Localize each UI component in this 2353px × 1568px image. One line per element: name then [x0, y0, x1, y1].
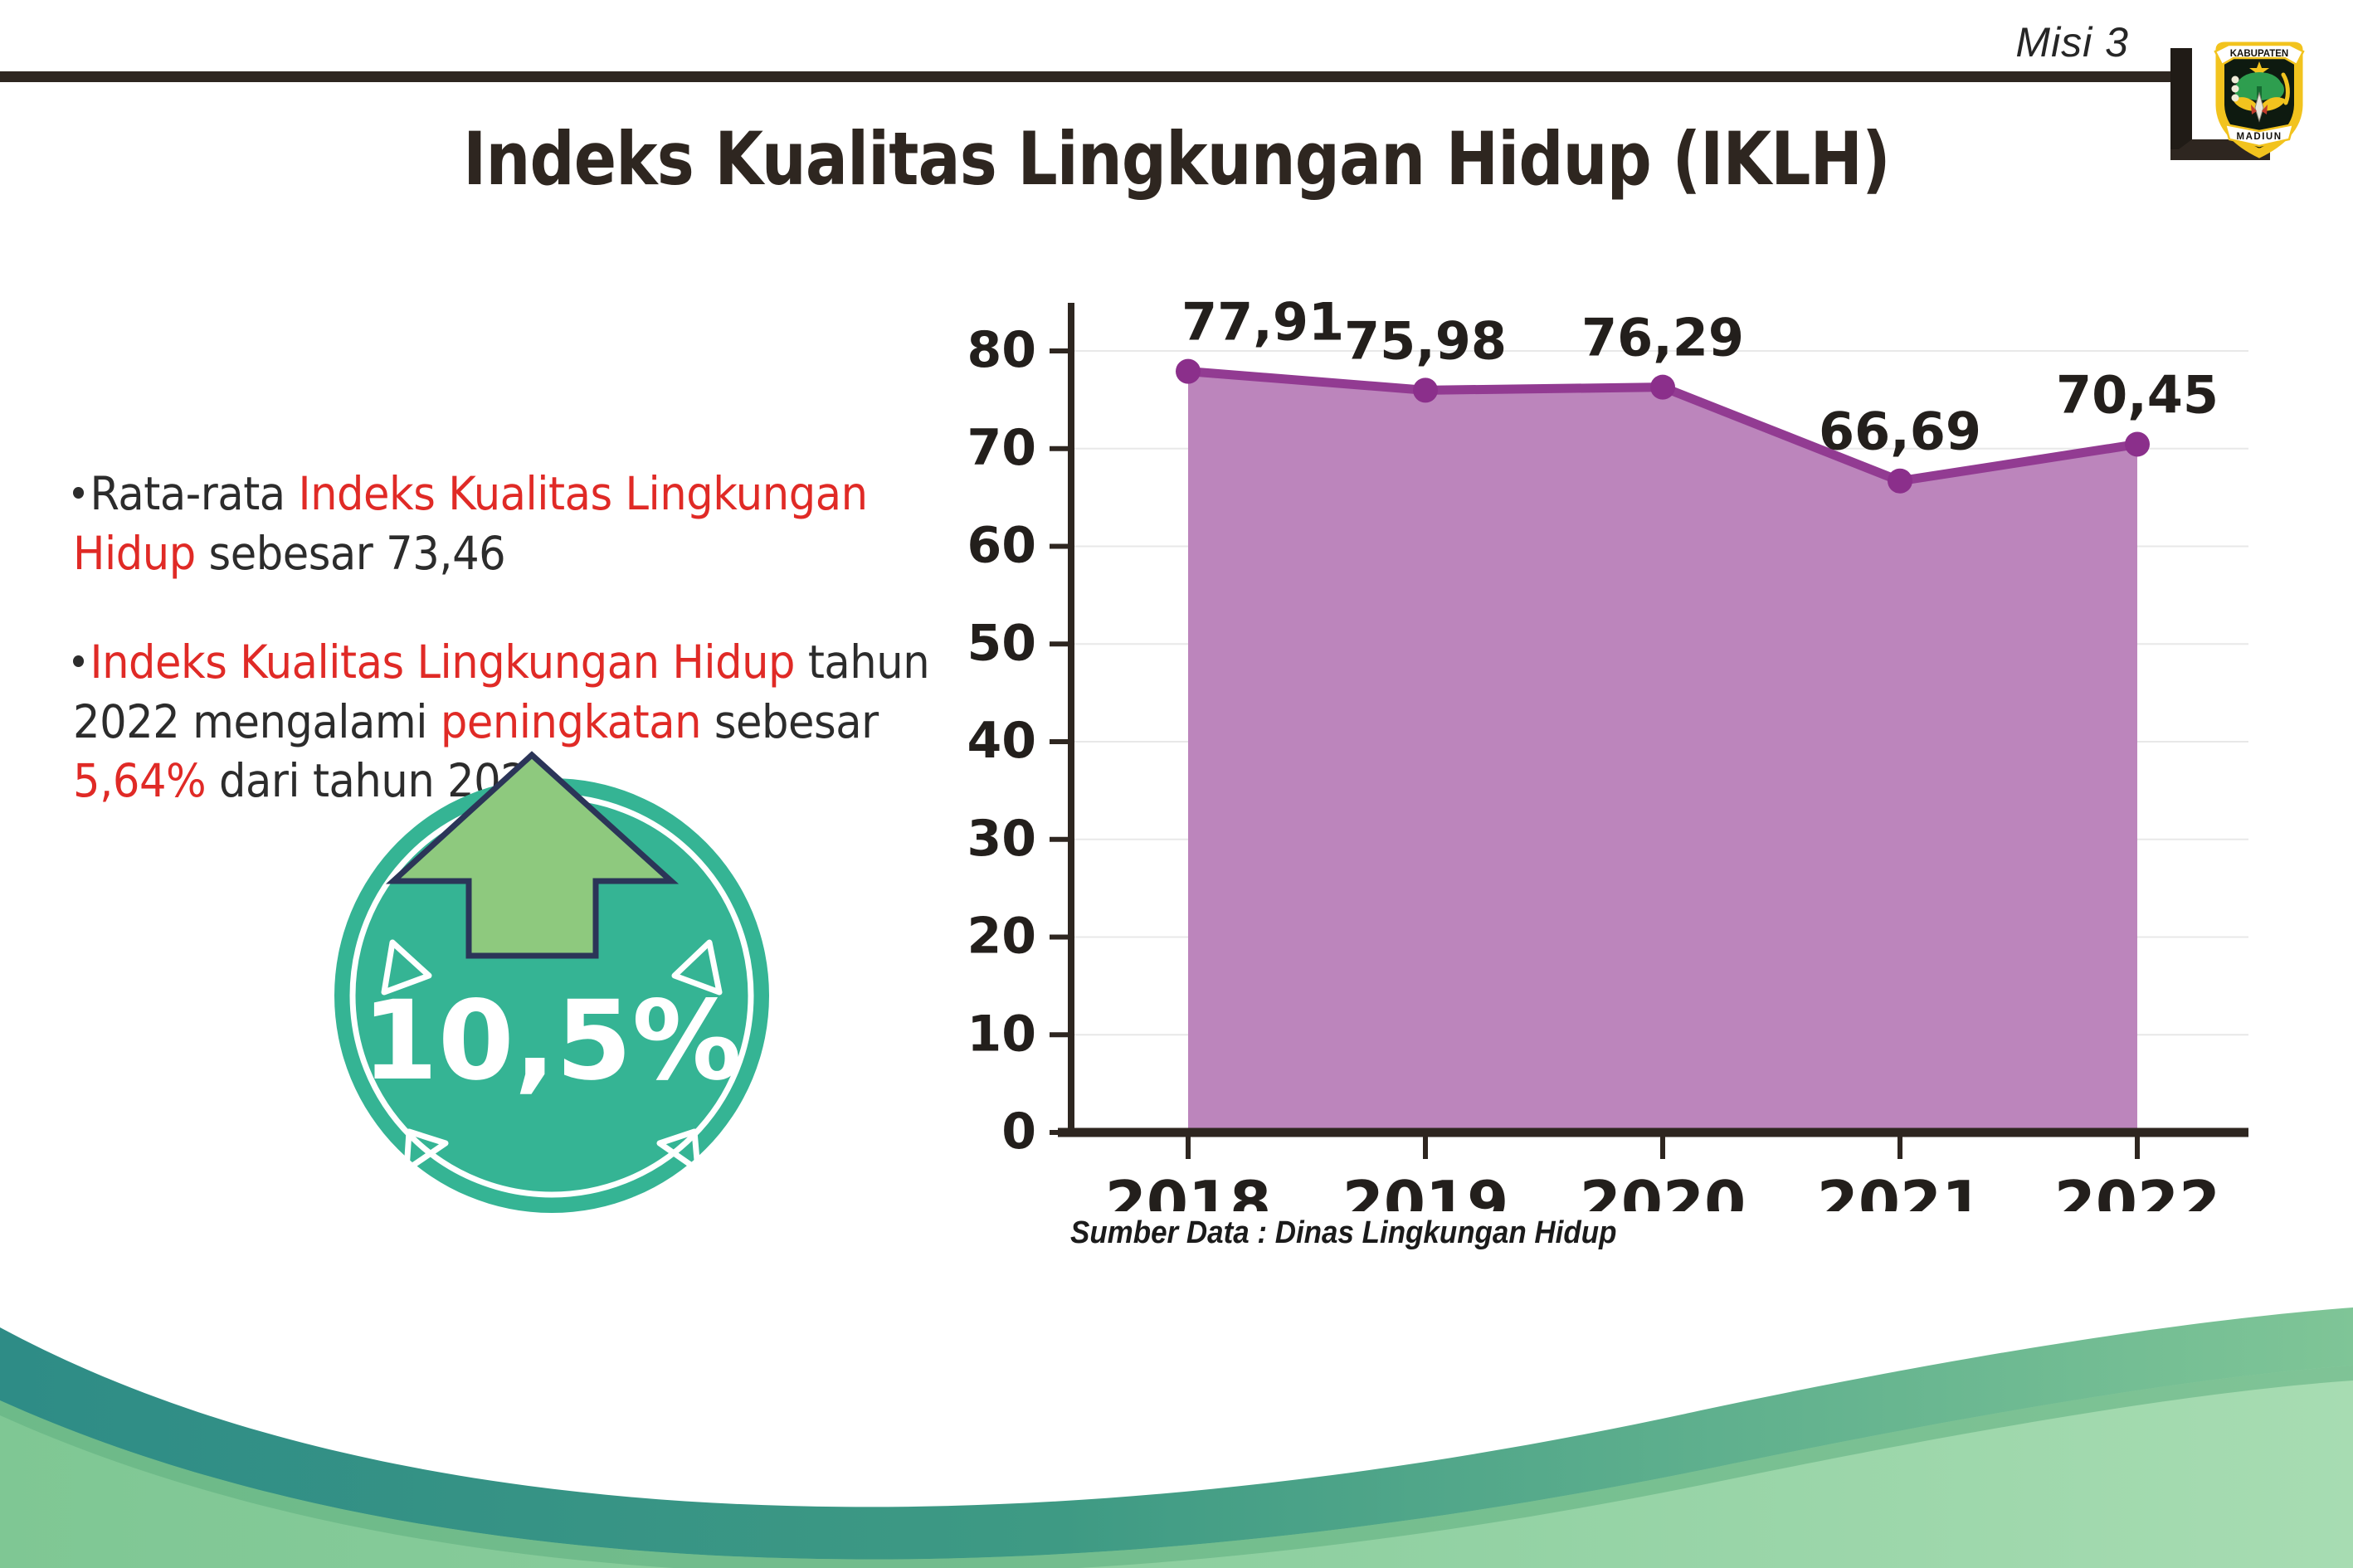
bullet-2-segment-3: peningkatan — [441, 695, 701, 748]
data-marker-2022 — [2125, 431, 2150, 456]
data-marker-2020 — [1650, 375, 1675, 400]
bullet-1-text: Rata-rata Indeks Kualitas Lingkungan Hid… — [73, 467, 868, 580]
badge-percentage-value: 10,5% — [362, 977, 742, 1105]
y-tick-label-0: 0 — [1001, 1103, 1036, 1161]
y-tick-label-40: 40 — [967, 712, 1037, 770]
bullet-2-segment-4: sebesar — [701, 695, 879, 748]
value-label-2020: 76,29 — [1581, 308, 1744, 368]
footer-wave-graphic — [0, 1294, 2353, 1568]
header-divider-rule — [0, 71, 2179, 82]
x-tick-label-2021: 2021 — [1817, 1168, 1983, 1211]
x-tick-label-2019: 2019 — [1342, 1168, 1508, 1211]
data-marker-2018 — [1176, 359, 1201, 384]
bullet-dot-icon — [73, 655, 84, 667]
chart-x-tick-labels: 20182019202020212022 — [1105, 1168, 2220, 1211]
crest-bottom-label: MADIUN — [2237, 132, 2282, 142]
value-label-2019: 75,98 — [1344, 310, 1507, 371]
chart-area-fill — [1188, 372, 2137, 1132]
increase-badge-graphic: 10,5% — [319, 747, 784, 1220]
value-label-2022: 70,45 — [2056, 364, 2219, 425]
bullet-2-segment-5: 5,64% — [73, 754, 206, 807]
page-title: Indeks Kualitas Lingkungan Hidup (IKLH) — [165, 116, 2189, 202]
bullet-1-segment-1: Rata-rata — [90, 467, 298, 520]
infographic-slide: Misi 3 KABUPATEN MADIUN In — [0, 0, 2353, 1568]
increase-badge: 10,5% — [319, 747, 784, 1220]
y-tick-label-50: 50 — [967, 614, 1037, 672]
bullet-average-iklh: Rata-rata Indeks Kualitas Lingkungan Hid… — [73, 465, 929, 583]
x-tick-label-2018: 2018 — [1105, 1168, 1271, 1211]
y-tick-label-60: 60 — [967, 517, 1037, 575]
chart-source-note: Sumber Data : Dinas Lingkungan Hidup — [1070, 1215, 1616, 1251]
x-tick-label-2020: 2020 — [1580, 1168, 1746, 1211]
y-tick-label-70: 70 — [967, 419, 1037, 477]
crest-top-label: KABUPATEN — [2230, 49, 2289, 59]
iklh-area-chart: 01020304050607080 77,9175,9876,2966,6970… — [962, 282, 2273, 1211]
value-label-2018: 77,91 — [1181, 292, 1344, 353]
y-tick-label-80: 80 — [967, 321, 1037, 379]
bullet-2-segment-1: Indeks Kualitas Lingkungan Hidup — [90, 635, 795, 689]
y-tick-label-10: 10 — [967, 1005, 1037, 1063]
misi-label: Misi 3 — [2015, 18, 2129, 66]
footer-banner: Media Infografis Data Statistik Sektoral… — [0, 1294, 2353, 1568]
chart-y-tick-labels: 01020304050607080 — [967, 321, 1037, 1161]
kabupaten-madiun-crest-logo: KABUPATEN MADIUN — [2205, 28, 2313, 161]
value-label-2021: 66,69 — [1819, 402, 1981, 462]
data-marker-2021 — [1888, 469, 1912, 494]
y-tick-label-30: 30 — [967, 810, 1037, 868]
x-tick-label-2022: 2022 — [2054, 1168, 2220, 1211]
y-tick-label-20: 20 — [967, 908, 1037, 966]
area-fill-path — [1188, 372, 2137, 1132]
data-marker-2019 — [1413, 377, 1438, 402]
bullet-dot-icon — [73, 487, 84, 499]
bullet-1-segment-3: sebesar 73,46 — [196, 527, 506, 580]
chart-canvas: 01020304050607080 77,9175,9876,2966,6970… — [962, 282, 2273, 1211]
